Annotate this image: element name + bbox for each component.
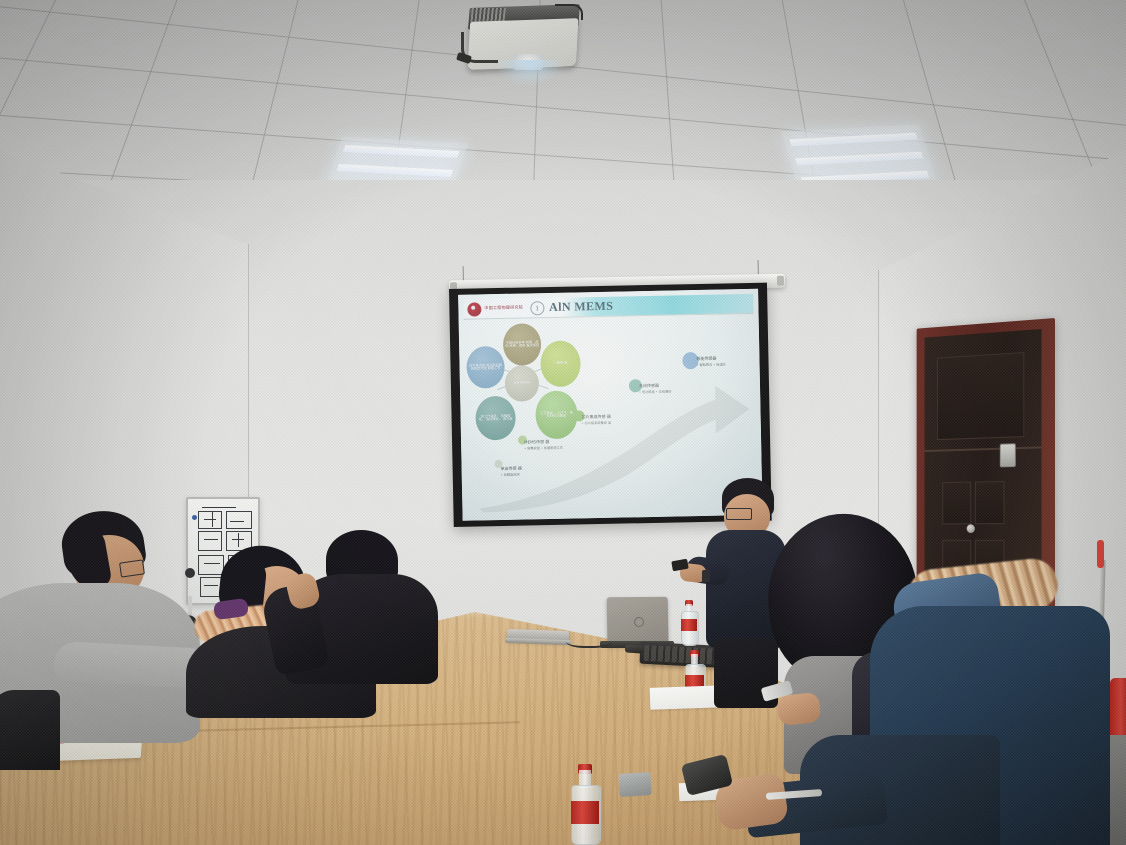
institute-logo-text: 中国工程物理研究院 bbox=[484, 306, 523, 311]
presenter-watch bbox=[702, 570, 710, 582]
institute-logo-icon bbox=[467, 302, 481, 316]
slide-section-number: 1 bbox=[530, 301, 544, 315]
projector-beam bbox=[495, 60, 565, 86]
roadmap-stage-5: 智能传感器 • 智能算法 • 自适应 bbox=[696, 355, 748, 367]
diagram-bubble-top: 中国科研多年 积累、原创 成果、国家 重点项目 bbox=[503, 323, 542, 366]
attendee-long-hair-phone-hand bbox=[777, 692, 822, 726]
laptop-brand-logo bbox=[634, 617, 644, 627]
door-card-reader[interactable] bbox=[1000, 443, 1016, 467]
ceiling-projector bbox=[455, 2, 583, 72]
roadmap-stage-3: 芯片集成传感 器 • 芯片级系统集成 度 bbox=[582, 413, 638, 425]
slide-title: AlN MEMS bbox=[549, 299, 613, 315]
eraser[interactable] bbox=[618, 772, 652, 797]
roadmap-stage-1: 单支传感 器 • 高精度探测 bbox=[501, 465, 553, 477]
roadmap-stage-4: 无线传感器 • 低功耗度 • 无线通信 bbox=[639, 382, 693, 394]
water-bottle-2[interactable] bbox=[681, 600, 697, 646]
remote-control[interactable] bbox=[625, 644, 644, 653]
meeting-room-photo: 中国工程物理研究院 1 AlN MEMS 中国科研多年 积累、原创 成果、国家 … bbox=[0, 0, 1126, 845]
roadmap-stage-2: MEMS传感 器 • 高集成度 • 批量制造工艺 bbox=[524, 438, 578, 450]
water-bottle-4[interactable] bbox=[571, 764, 599, 845]
laptop-cable bbox=[566, 632, 612, 648]
presenter-glasses bbox=[726, 508, 752, 520]
attendee-foreground-phone bbox=[660, 735, 990, 845]
attendee-dark-coat bbox=[286, 530, 426, 680]
laptop-screen[interactable] bbox=[607, 597, 669, 646]
attendee-left-edge-shoulder bbox=[0, 690, 60, 770]
